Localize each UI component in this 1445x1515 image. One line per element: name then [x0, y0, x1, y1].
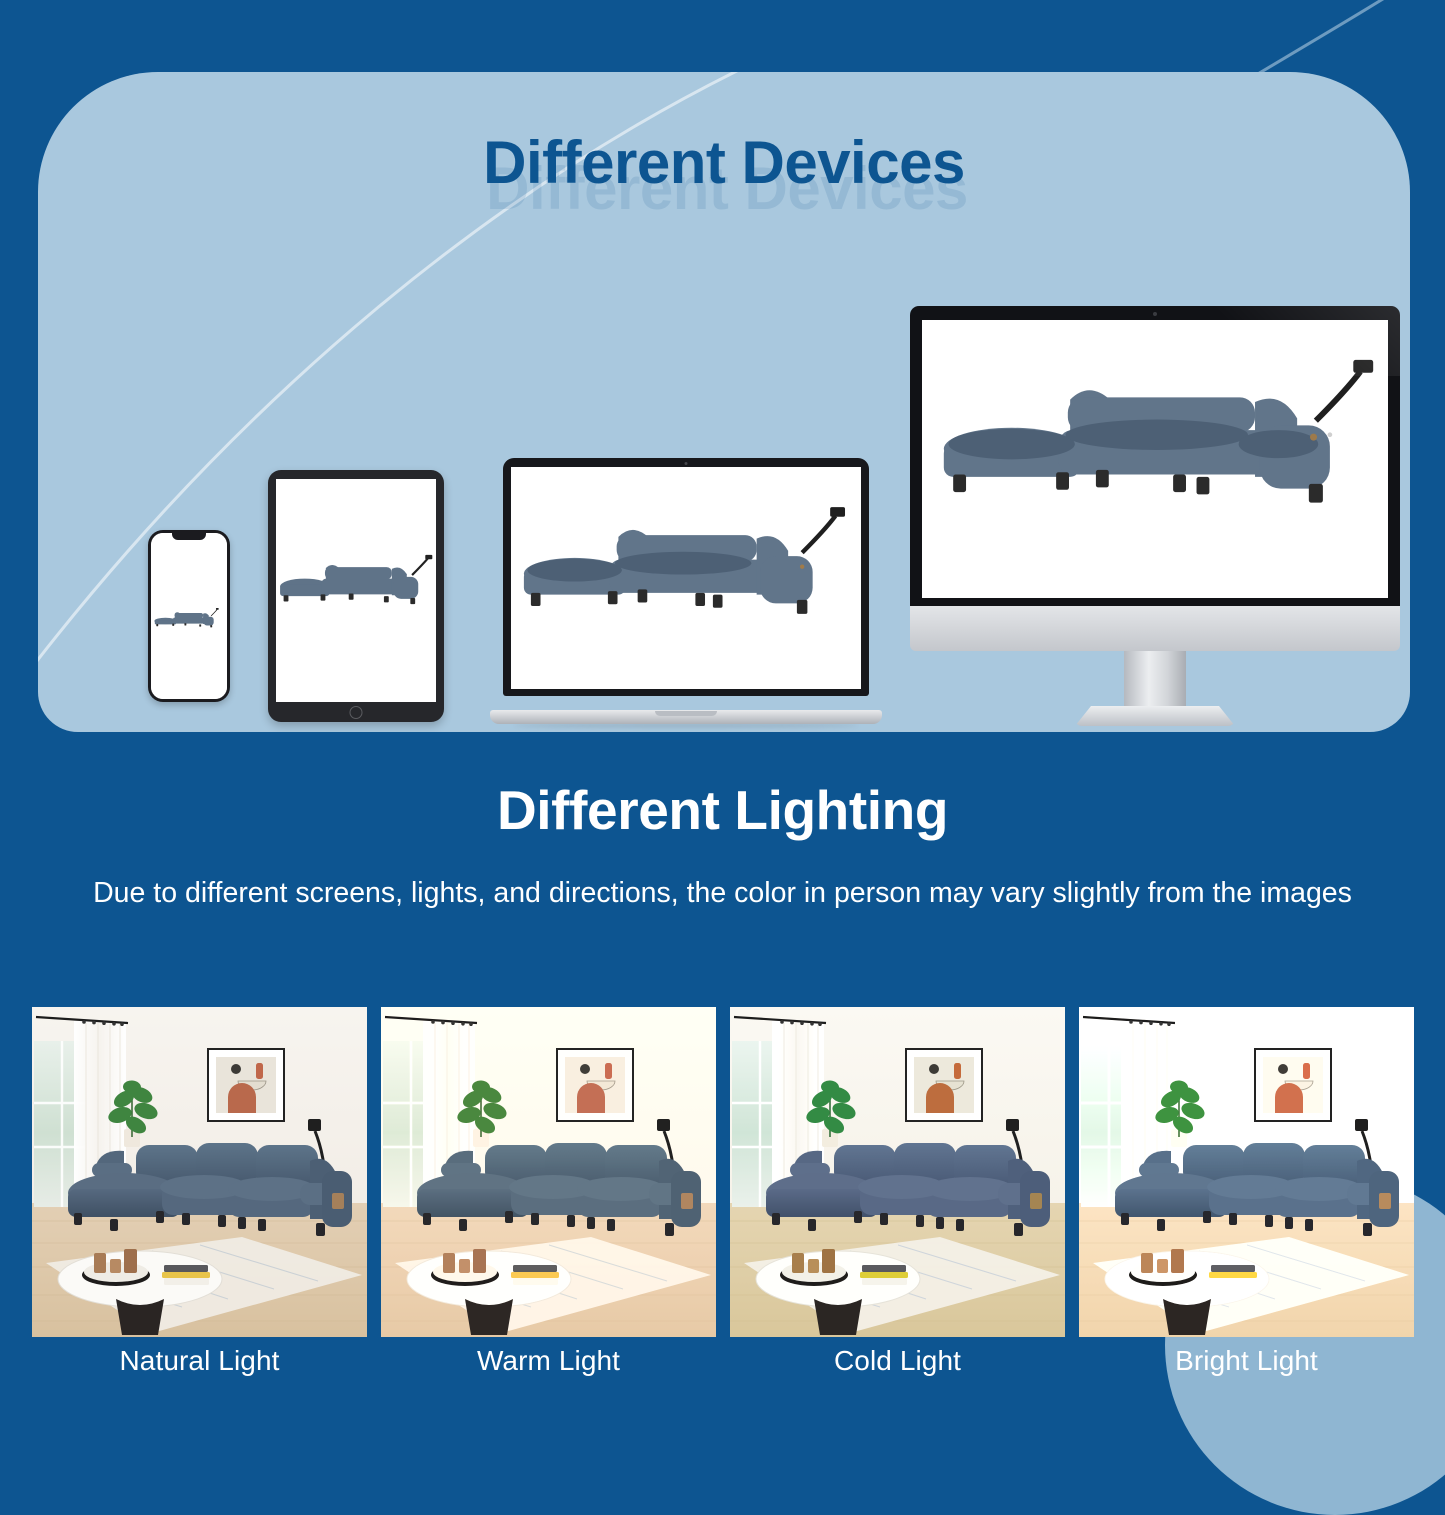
laptop-trackpad-notch [655, 711, 717, 716]
lighting-photo-cold[interactable] [730, 1007, 1065, 1337]
lighting-labels-row: Natural Light Warm Light Cold Light Brig… [32, 1345, 1414, 1377]
light-label-natural: Natural Light [32, 1345, 367, 1377]
tablet-icon [268, 470, 444, 722]
devices-section-title: Different Devices [38, 128, 1410, 197]
desktop-monitor-icon [910, 306, 1400, 731]
monitor-stand-base [1075, 706, 1235, 726]
monitor-camera [1153, 312, 1157, 316]
living-room-scene [1079, 1007, 1414, 1337]
monitor-screen-sofa-image [922, 320, 1388, 598]
laptop-base [490, 710, 882, 724]
light-label-warm: Warm Light [381, 1345, 716, 1377]
monitor-stand-neck [1124, 651, 1186, 709]
lighting-section-title: Different Lighting [0, 778, 1445, 842]
living-room-scene [32, 1007, 367, 1337]
laptop-screen-sofa-image [511, 467, 861, 689]
lighting-photo-bright[interactable] [1079, 1007, 1414, 1337]
tablet-home-button [350, 706, 363, 719]
phone-screen-sofa-image [151, 533, 227, 699]
lighting-photo-natural[interactable] [32, 1007, 367, 1337]
laptop-camera [685, 462, 688, 465]
lighting-photo-grid [32, 1007, 1414, 1337]
light-label-cold: Cold Light [730, 1345, 1065, 1377]
different-devices-panel: Different Devices [38, 72, 1410, 732]
monitor-chin [910, 606, 1400, 651]
laptop-icon [490, 458, 882, 730]
lighting-description: Due to different screens, lights, and di… [60, 872, 1385, 915]
lighting-photo-warm[interactable] [381, 1007, 716, 1337]
living-room-scene [381, 1007, 716, 1337]
light-label-bright: Bright Light [1079, 1345, 1414, 1377]
phone-notch [172, 533, 206, 540]
smartphone-icon [148, 530, 230, 702]
tablet-screen-sofa-image [276, 479, 436, 702]
living-room-scene [730, 1007, 1065, 1337]
